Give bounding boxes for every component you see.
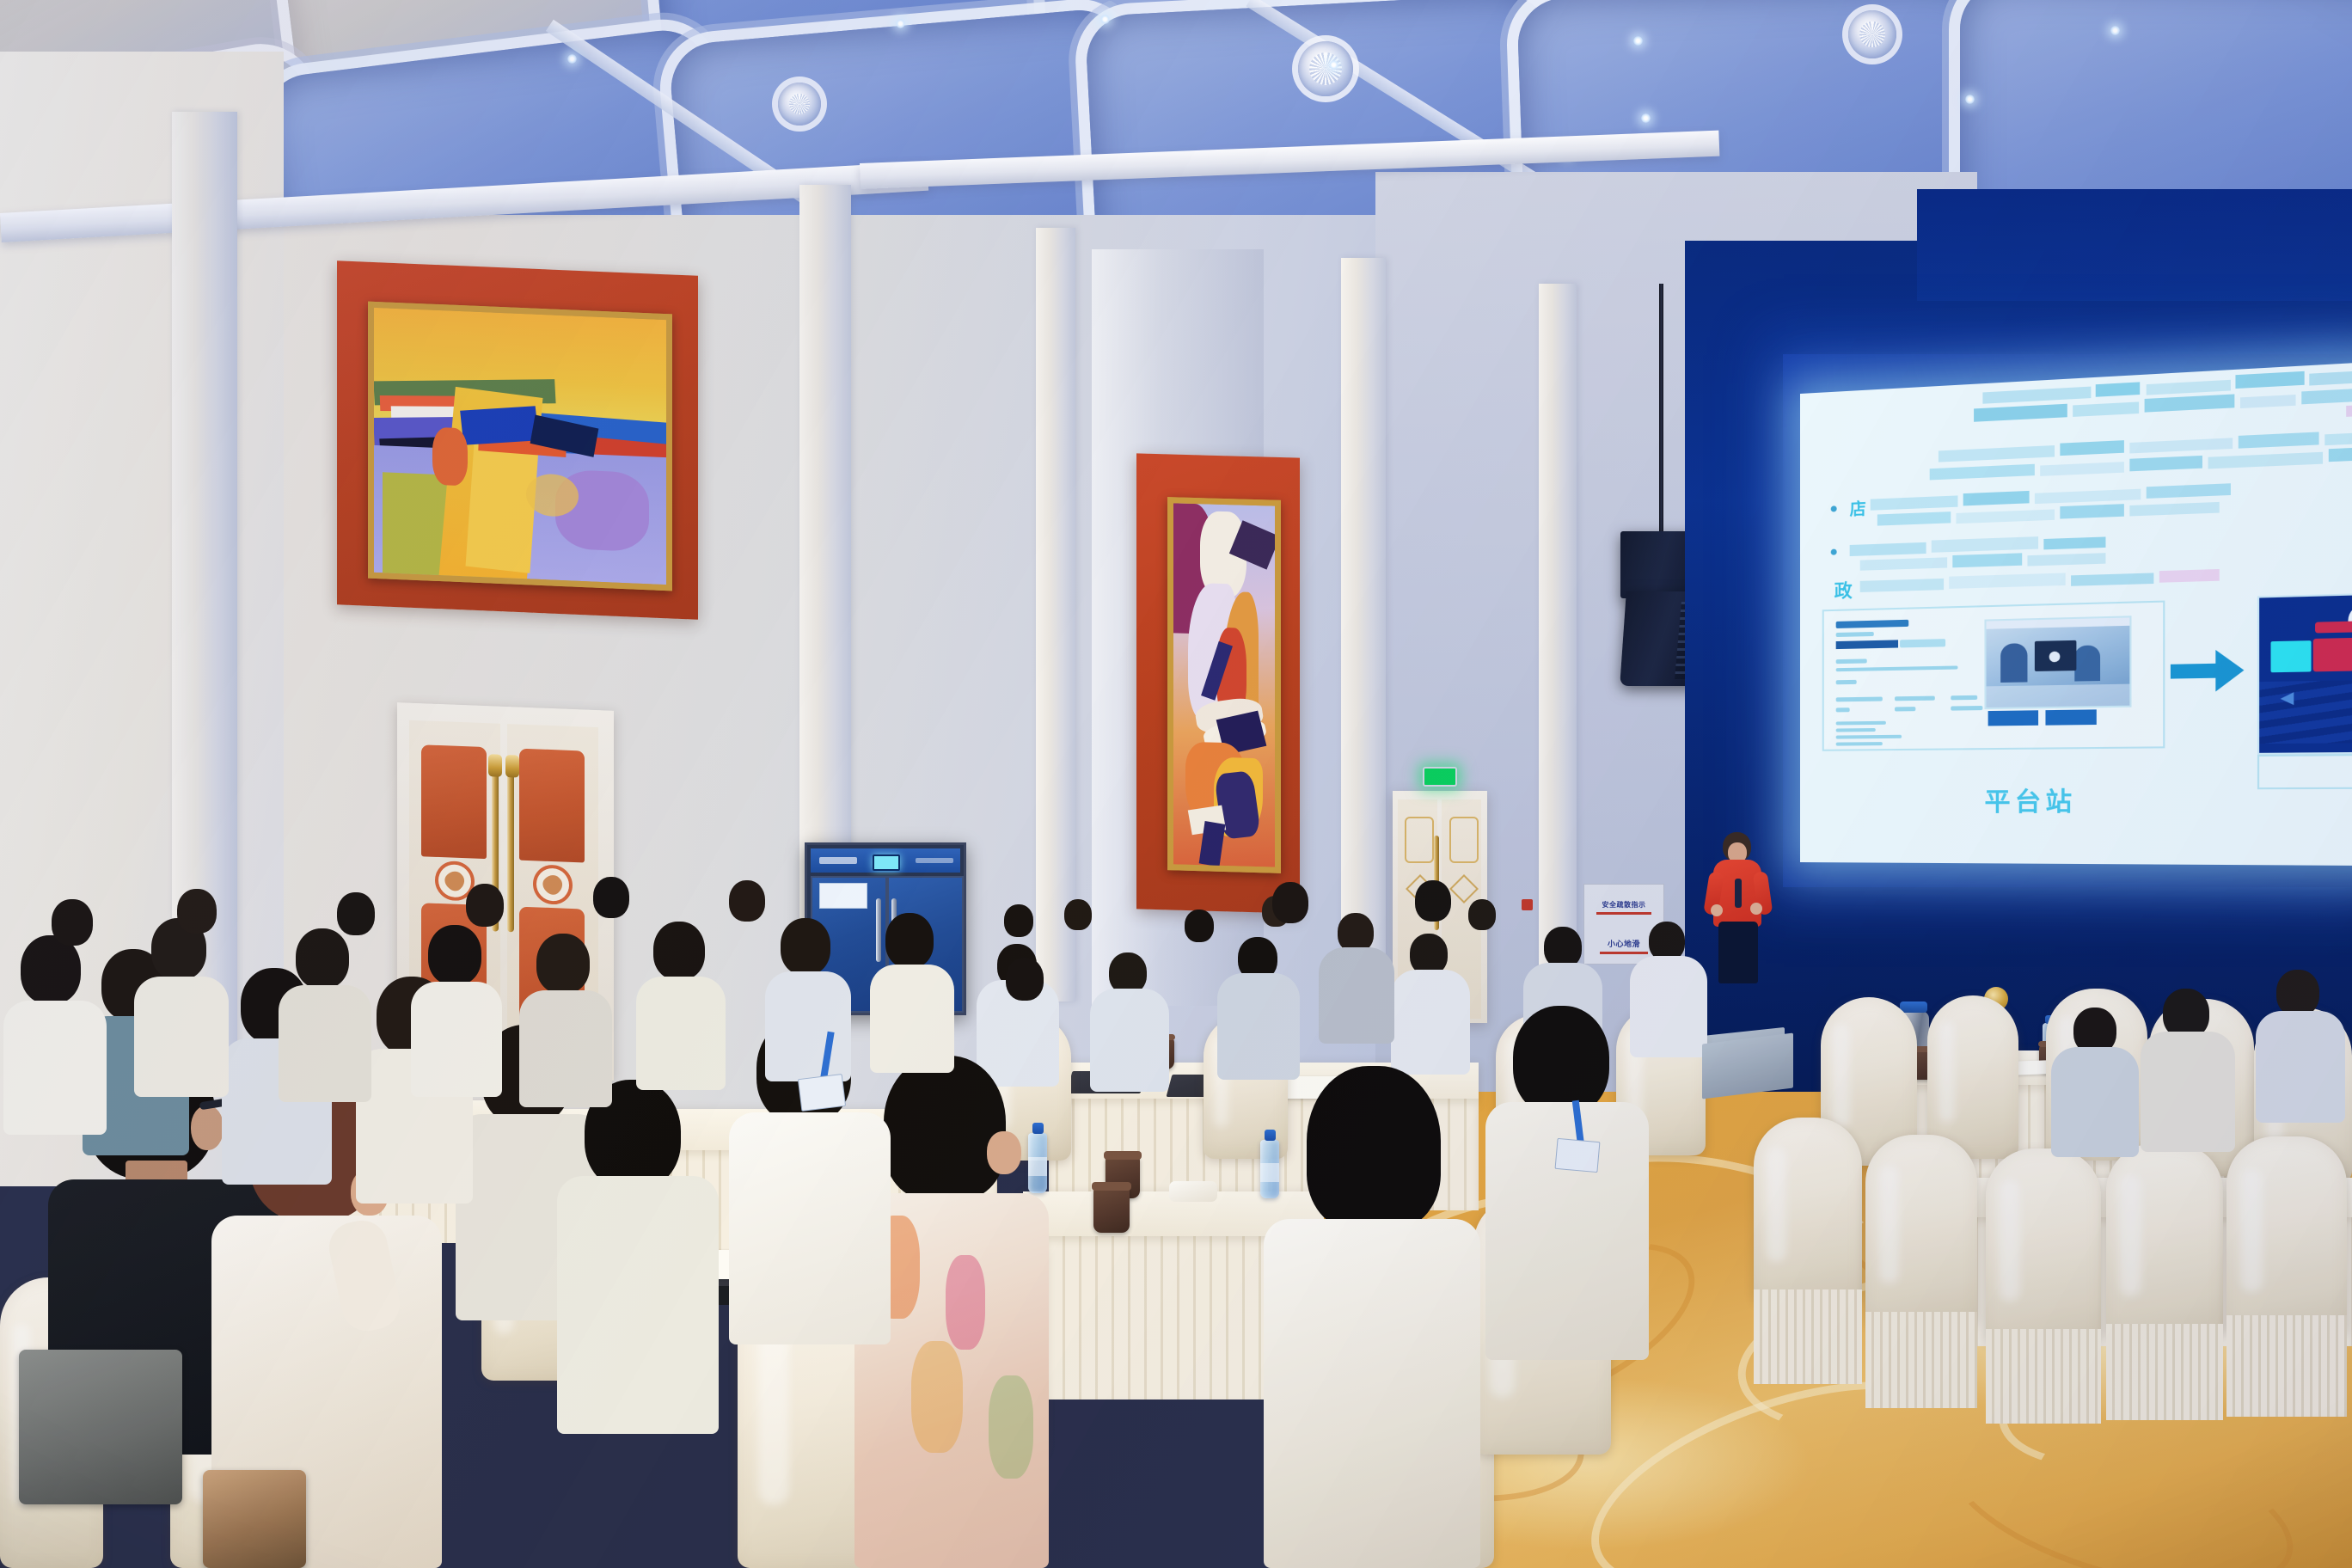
door-panel xyxy=(519,749,585,863)
slide-caption: 平台站 xyxy=(1984,781,2076,819)
artwork-abstract-figure xyxy=(1167,497,1281,873)
wall-fire-alarm xyxy=(1522,899,1533,910)
handheld-microphone xyxy=(1735,879,1742,908)
slide-thumbnail-button xyxy=(2045,709,2096,725)
wall-sign-line-1: 安全疏散指示 xyxy=(1584,900,1663,910)
door-handle[interactable] xyxy=(507,769,514,932)
laptop[interactable] xyxy=(1702,1032,1793,1099)
door-panel xyxy=(421,744,487,859)
water-bottle xyxy=(1028,1133,1047,1193)
slide-bullet-1-redacted xyxy=(1871,481,2252,530)
banquet-chair xyxy=(1754,1118,1862,1303)
conference-hall-photo: 安全疏散指示 小心地滑 xyxy=(0,0,2352,1568)
backpack xyxy=(19,1350,182,1504)
name-badge xyxy=(1555,1138,1601,1173)
fridge-display xyxy=(873,854,900,871)
projection-screen: 店 政 xyxy=(1800,361,2352,867)
banquet-chair xyxy=(1865,1135,1977,1326)
ceiling-rosette xyxy=(1848,10,1896,58)
slide-bullet-2-redacted xyxy=(1850,530,2201,573)
wall-pilaster xyxy=(1341,258,1386,980)
artwork-abstract-landscape xyxy=(368,302,672,591)
ceiling-rosette xyxy=(1298,41,1353,96)
door-medallion xyxy=(533,864,573,905)
emergency-exit-sign xyxy=(1423,767,1457,787)
slide-mobile-caption-box xyxy=(2257,754,2352,790)
name-badge xyxy=(798,1074,846,1112)
tea-cup xyxy=(1093,1188,1130,1233)
slide-sub-redacted xyxy=(1860,568,2221,600)
slide-thumbnail-button xyxy=(1988,710,2038,726)
banquet-chair xyxy=(1986,1148,2101,1344)
slide-mobile-app-mock xyxy=(2257,592,2352,755)
banquet-chair xyxy=(2226,1136,2347,1336)
stage-backdrop-extension xyxy=(1917,189,2352,301)
ceiling-rosette xyxy=(778,83,821,126)
water-bottle xyxy=(1260,1140,1279,1198)
slide-sub-label: 政 xyxy=(1834,577,1856,603)
slide-thumbnail-photo xyxy=(1984,616,2131,709)
handbag xyxy=(203,1470,306,1568)
door-knob[interactable] xyxy=(488,754,502,777)
slide-flow-arrow xyxy=(2171,649,2245,692)
speaker-mount-rod xyxy=(1659,284,1663,542)
wall-pilaster xyxy=(1036,228,1075,1001)
banquet-chair xyxy=(2106,1143,2223,1339)
slide-bullet-marker xyxy=(1831,505,1837,511)
slide-bullet-label: 店 xyxy=(1850,496,1870,520)
banquet-chair xyxy=(1927,995,2018,1159)
slide-bullet-marker xyxy=(1831,549,1837,555)
wall-pilaster xyxy=(1539,284,1577,989)
door-knob[interactable] xyxy=(505,755,519,778)
